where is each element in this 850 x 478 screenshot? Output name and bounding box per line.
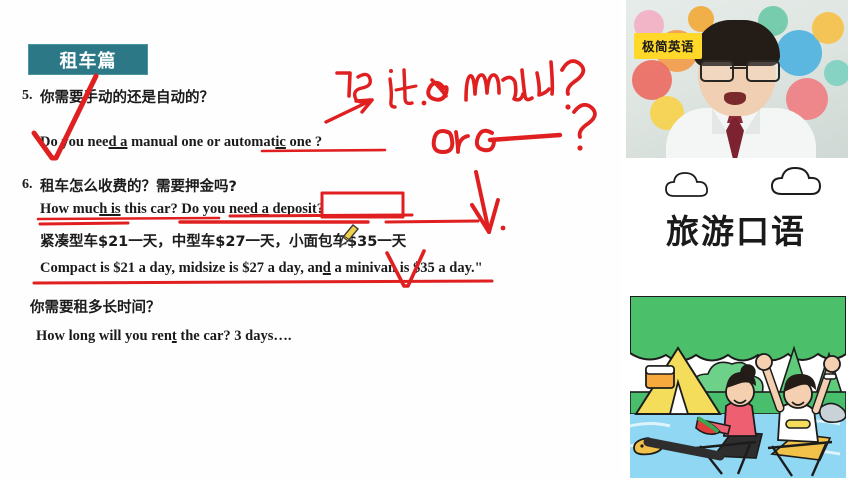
handwriting-question1-dot (565, 104, 570, 109)
box-around-deposit (322, 193, 403, 217)
en5-seg1: d a (108, 134, 127, 150)
de-seg0: How long will you ren (36, 328, 172, 344)
en6-seg0: How muc (40, 201, 99, 217)
handwriting-t-cross (396, 86, 416, 90)
arrow-into-is-head (356, 100, 372, 112)
item-number-6: 6. (22, 177, 33, 193)
en6-seg2: this car? Do you nee (121, 201, 250, 217)
camping-illustration (630, 296, 846, 478)
screenshot-root: 租车篇 5. 你需要手动的还是自动的？ Do you need a manual… (0, 0, 850, 478)
cloud-icons (622, 166, 850, 200)
handwriting-m (466, 75, 499, 100)
tent-awning (646, 366, 674, 374)
pe-seg0: Compact is $21 a day, midsize is $27 a d… (40, 260, 323, 276)
item-number-5: 5. (22, 88, 33, 104)
pe-seg1: d (323, 260, 331, 276)
pe-seg2: a minivan is $35 a day." (331, 260, 483, 276)
down-arrow-head (472, 200, 498, 232)
underline-how-much-is-this-car (38, 218, 219, 219)
handwriting-i-dot (389, 69, 393, 73)
handwriting-s (355, 74, 371, 101)
tree-canopy-back (630, 296, 846, 361)
personB-logo (786, 420, 810, 428)
down-arrow-dot (501, 226, 506, 231)
presenter-video-thumbnail[interactable]: 极简英语 (626, 0, 848, 158)
en5-seg4: one ? (286, 134, 322, 150)
en6-seg4: deposit? (269, 201, 324, 217)
handwriting-o (434, 131, 453, 152)
section-banner-label: 租车篇 (60, 47, 117, 73)
handwriting-l (551, 62, 552, 94)
handwriting-question2-dot (577, 145, 582, 150)
cloud-icon-left (666, 173, 707, 196)
en6-seg1: h is (99, 201, 120, 217)
handwriting-al (537, 73, 549, 95)
handwriting-t (404, 70, 412, 103)
cloud-icon-right (772, 168, 820, 194)
personB-wristband (824, 374, 836, 379)
personA-bun (741, 365, 755, 379)
handwriting-I (337, 73, 350, 96)
underline-compact-sentence (34, 281, 492, 283)
down-arrow-shaft (476, 172, 489, 232)
item-6-english: How much is this car? Do you need a depo… (40, 201, 324, 218)
handwriting-a1-slash (432, 80, 446, 96)
right-rail: 极简英语 旅游口语 (622, 0, 850, 478)
price-line-english: Compact is $21 a day, midsize is $27 a d… (40, 260, 483, 277)
glasses-icon (700, 60, 776, 78)
personB-fist-left (756, 354, 772, 370)
duration-line-english: How long will you rent the car? 3 days…. (36, 328, 292, 345)
en5-seg2: manual one or automat (127, 134, 275, 150)
handwriting-a1 (428, 83, 446, 100)
bubble-icon-3 (632, 60, 672, 100)
item-5-chinese: 你需要手动的还是自动的？ (40, 86, 214, 107)
channel-badge: 极简英语 (634, 33, 702, 59)
presenter-mouth (724, 92, 746, 105)
handwriting-r (456, 132, 468, 152)
pen-cursor-icon (338, 222, 360, 248)
de-seg2: the car? 3 days…. (177, 328, 292, 344)
handwriting-period (422, 101, 427, 106)
handwriting-an (503, 77, 523, 99)
underline-price-seg3 (386, 221, 478, 222)
slide-area: 租车篇 5. 你需要手动的还是自动的？ Do you need a manual… (0, 0, 622, 478)
item-6-chinese: 租车怎么收费的？需要押金吗? (40, 175, 237, 196)
bubble-icon-10 (824, 60, 848, 86)
course-title: 旅游口语 (622, 205, 850, 253)
duration-line-chinese: 你需要租多长时间？ (30, 296, 161, 317)
handwriting-question2 (574, 105, 595, 137)
handwriting-a2 (477, 131, 494, 151)
arrow-into-is-shaft (326, 100, 372, 122)
handwriting-blank-line (490, 135, 560, 140)
bubble-icon-8 (812, 12, 844, 44)
en5-seg3: ic (275, 134, 285, 150)
handwriting-u (522, 70, 532, 100)
personB-fist-right (824, 356, 840, 372)
section-banner: 租车篇 (28, 44, 148, 75)
handwriting-question1 (562, 61, 583, 94)
handwriting-i (390, 79, 395, 107)
en6-seg3: d a (250, 201, 269, 217)
item-5-english: Do you need a manual one or automatic on… (40, 134, 322, 151)
en5-seg0: Do you nee (40, 134, 108, 150)
underline-price-seg1 (40, 223, 128, 224)
